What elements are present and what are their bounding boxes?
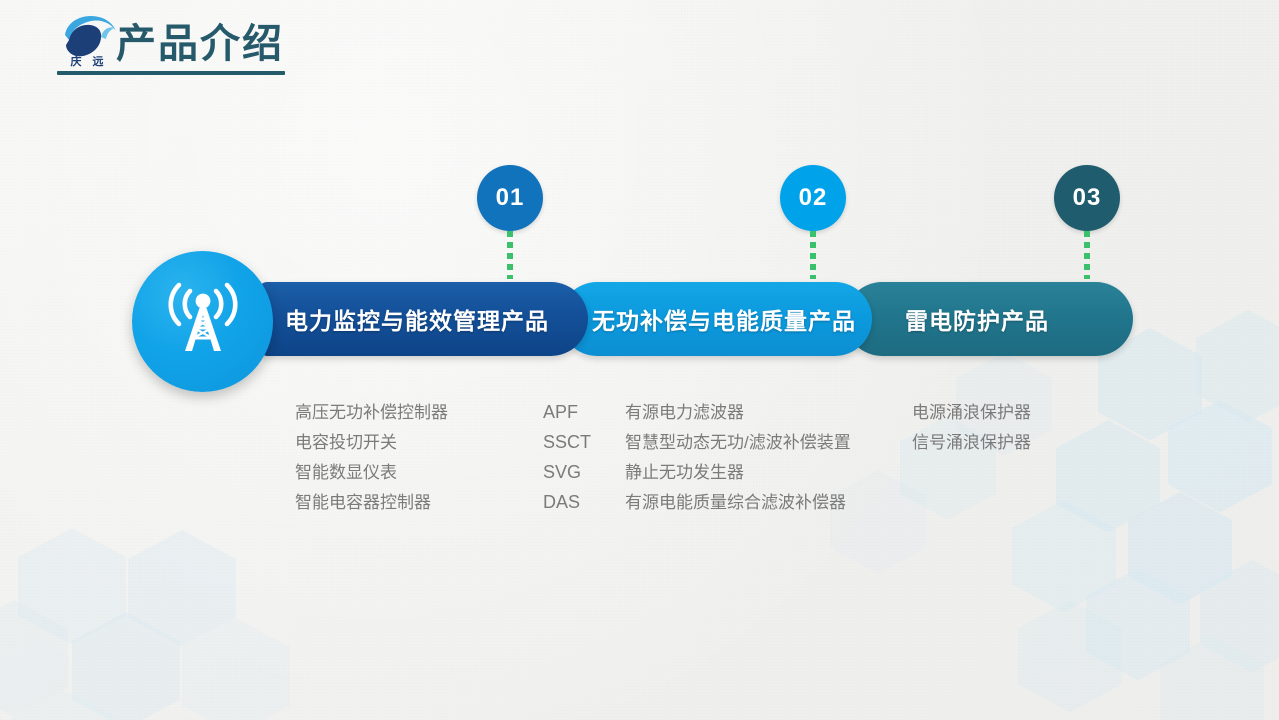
title-underline [57,71,285,75]
product-list-power-monitoring: 高压无功补偿控制器 电容投切开关 智能数显仪表 智能电容器控制器 [295,398,448,518]
product-list-reactive-compensation: APF 有源电力滤波器 SSCT 智慧型动态无功/滤波补偿装置 SVG 静止无功… [543,398,851,518]
marker-02-number: 02 [799,184,828,212]
page-title: 产品介绍 [116,18,284,70]
list-item-code: SSCT [543,432,625,453]
list-item-label: 智能数显仪表 [295,458,397,483]
hexagon-shape [0,600,68,717]
broadcast-tower-icon [162,281,244,362]
list-item-code: SVG [543,462,625,483]
slide-canvas: 庆 远 产品介绍 01 02 03 雷电防护产品 无功补偿与电能质量产品 电力监… [0,0,1279,720]
list-item-label: 智能电容器控制器 [295,488,431,513]
list-item-code: APF [543,402,625,423]
list-item-label: 有源电能质量综合滤波补偿器 [625,488,846,513]
marker-02-circle[interactable]: 02 [780,165,846,231]
list-item-label: 有源电力滤波器 [625,398,744,423]
segment-power-monitoring-label: 电力监控与能效管理产品 [285,302,549,336]
segment-lightning-protection-label: 雷电防护产品 [905,302,1049,336]
list-item: 高压无功补偿控制器 [295,398,448,428]
hexagon-shape [1160,636,1264,720]
list-item: SVG 静止无功发生器 [543,458,851,488]
hexagon-shape [1012,500,1116,612]
list-item: SSCT 智慧型动态无功/滤波补偿装置 [543,428,851,458]
hexagon-shape [72,612,180,720]
slide-header: 庆 远 产品介绍 [0,0,1279,92]
list-item: 信号涌浪保护器 [912,428,1031,458]
segment-reactive-compensation-label: 无功补偿与电能质量产品 [592,302,856,336]
list-item-code: DAS [543,492,625,513]
list-item-label: 高压无功补偿控制器 [295,398,448,423]
hexagon-shape [1168,400,1272,512]
list-item-label: 静止无功发生器 [625,458,744,483]
logo-text: 庆 远 [63,53,115,69]
list-item: DAS 有源电能质量综合滤波补偿器 [543,488,851,518]
marker-01-circle[interactable]: 01 [477,165,543,231]
list-item: 电源涌浪保护器 [912,398,1031,428]
list-item: 电容投切开关 [295,428,448,458]
hexagon-shape [1086,568,1190,680]
marker-03-number: 03 [1073,184,1102,212]
hexagon-shape [128,530,236,647]
hexagon-shape [1056,420,1160,532]
hexagon-shape [1200,560,1279,672]
hexagon-shape [18,528,126,645]
segment-lightning-protection[interactable]: 雷电防护产品 [845,282,1133,356]
marker-01-number: 01 [496,184,525,212]
list-item: 智能数显仪表 [295,458,448,488]
marker-03-circle[interactable]: 03 [1054,165,1120,231]
list-item-label: 信号涌浪保护器 [912,428,1031,453]
segment-reactive-compensation[interactable]: 无功补偿与电能质量产品 [560,282,872,356]
segment-power-monitoring[interactable]: 电力监控与能效管理产品 [258,282,588,356]
list-item: 智能电容器控制器 [295,488,448,518]
hexagon-shape [1018,600,1122,712]
product-list-lightning-protection: 电源涌浪保护器 信号涌浪保护器 [912,398,1031,458]
broadcast-tower-icon-badge[interactable] [132,251,273,392]
list-item-label: 电容投切开关 [295,428,397,453]
hexagon-shape [1128,492,1232,604]
hexagon-shape [10,690,118,720]
list-item-label: 智慧型动态无功/滤波补偿装置 [625,428,851,453]
list-item: APF 有源电力滤波器 [543,398,851,428]
hexagon-shape [182,618,290,720]
list-item-label: 电源涌浪保护器 [912,398,1031,423]
qingyuan-logo: 庆 远 [55,9,121,71]
